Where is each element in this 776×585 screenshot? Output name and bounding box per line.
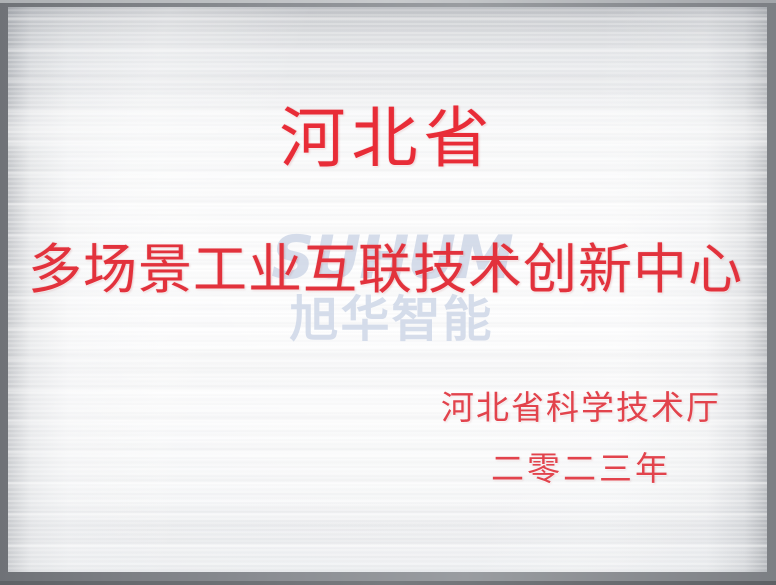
issuing-authority: 河北省科学技术厅 [438, 389, 724, 429]
signature-block: 河北省科学技术厅 二零二三年 [438, 389, 724, 490]
plaque-photo: SUHUM 旭华智能 河北省 多场景工业互联技术创新中心 河北省科学技术厅 二零… [0, 0, 776, 585]
frame-highlight-edge [0, 0, 776, 3]
issue-date: 二零二三年 [438, 450, 724, 490]
plaque-headline: 多场景工业互联技术创新中心 [8, 239, 767, 301]
frame-shadow-edge [0, 581, 776, 585]
plaque-title: 河北省 [8, 103, 767, 177]
brushed-metal-plate: SUHUM 旭华智能 河北省 多场景工业互联技术创新中心 河北省科学技术厅 二零… [8, 7, 767, 572]
